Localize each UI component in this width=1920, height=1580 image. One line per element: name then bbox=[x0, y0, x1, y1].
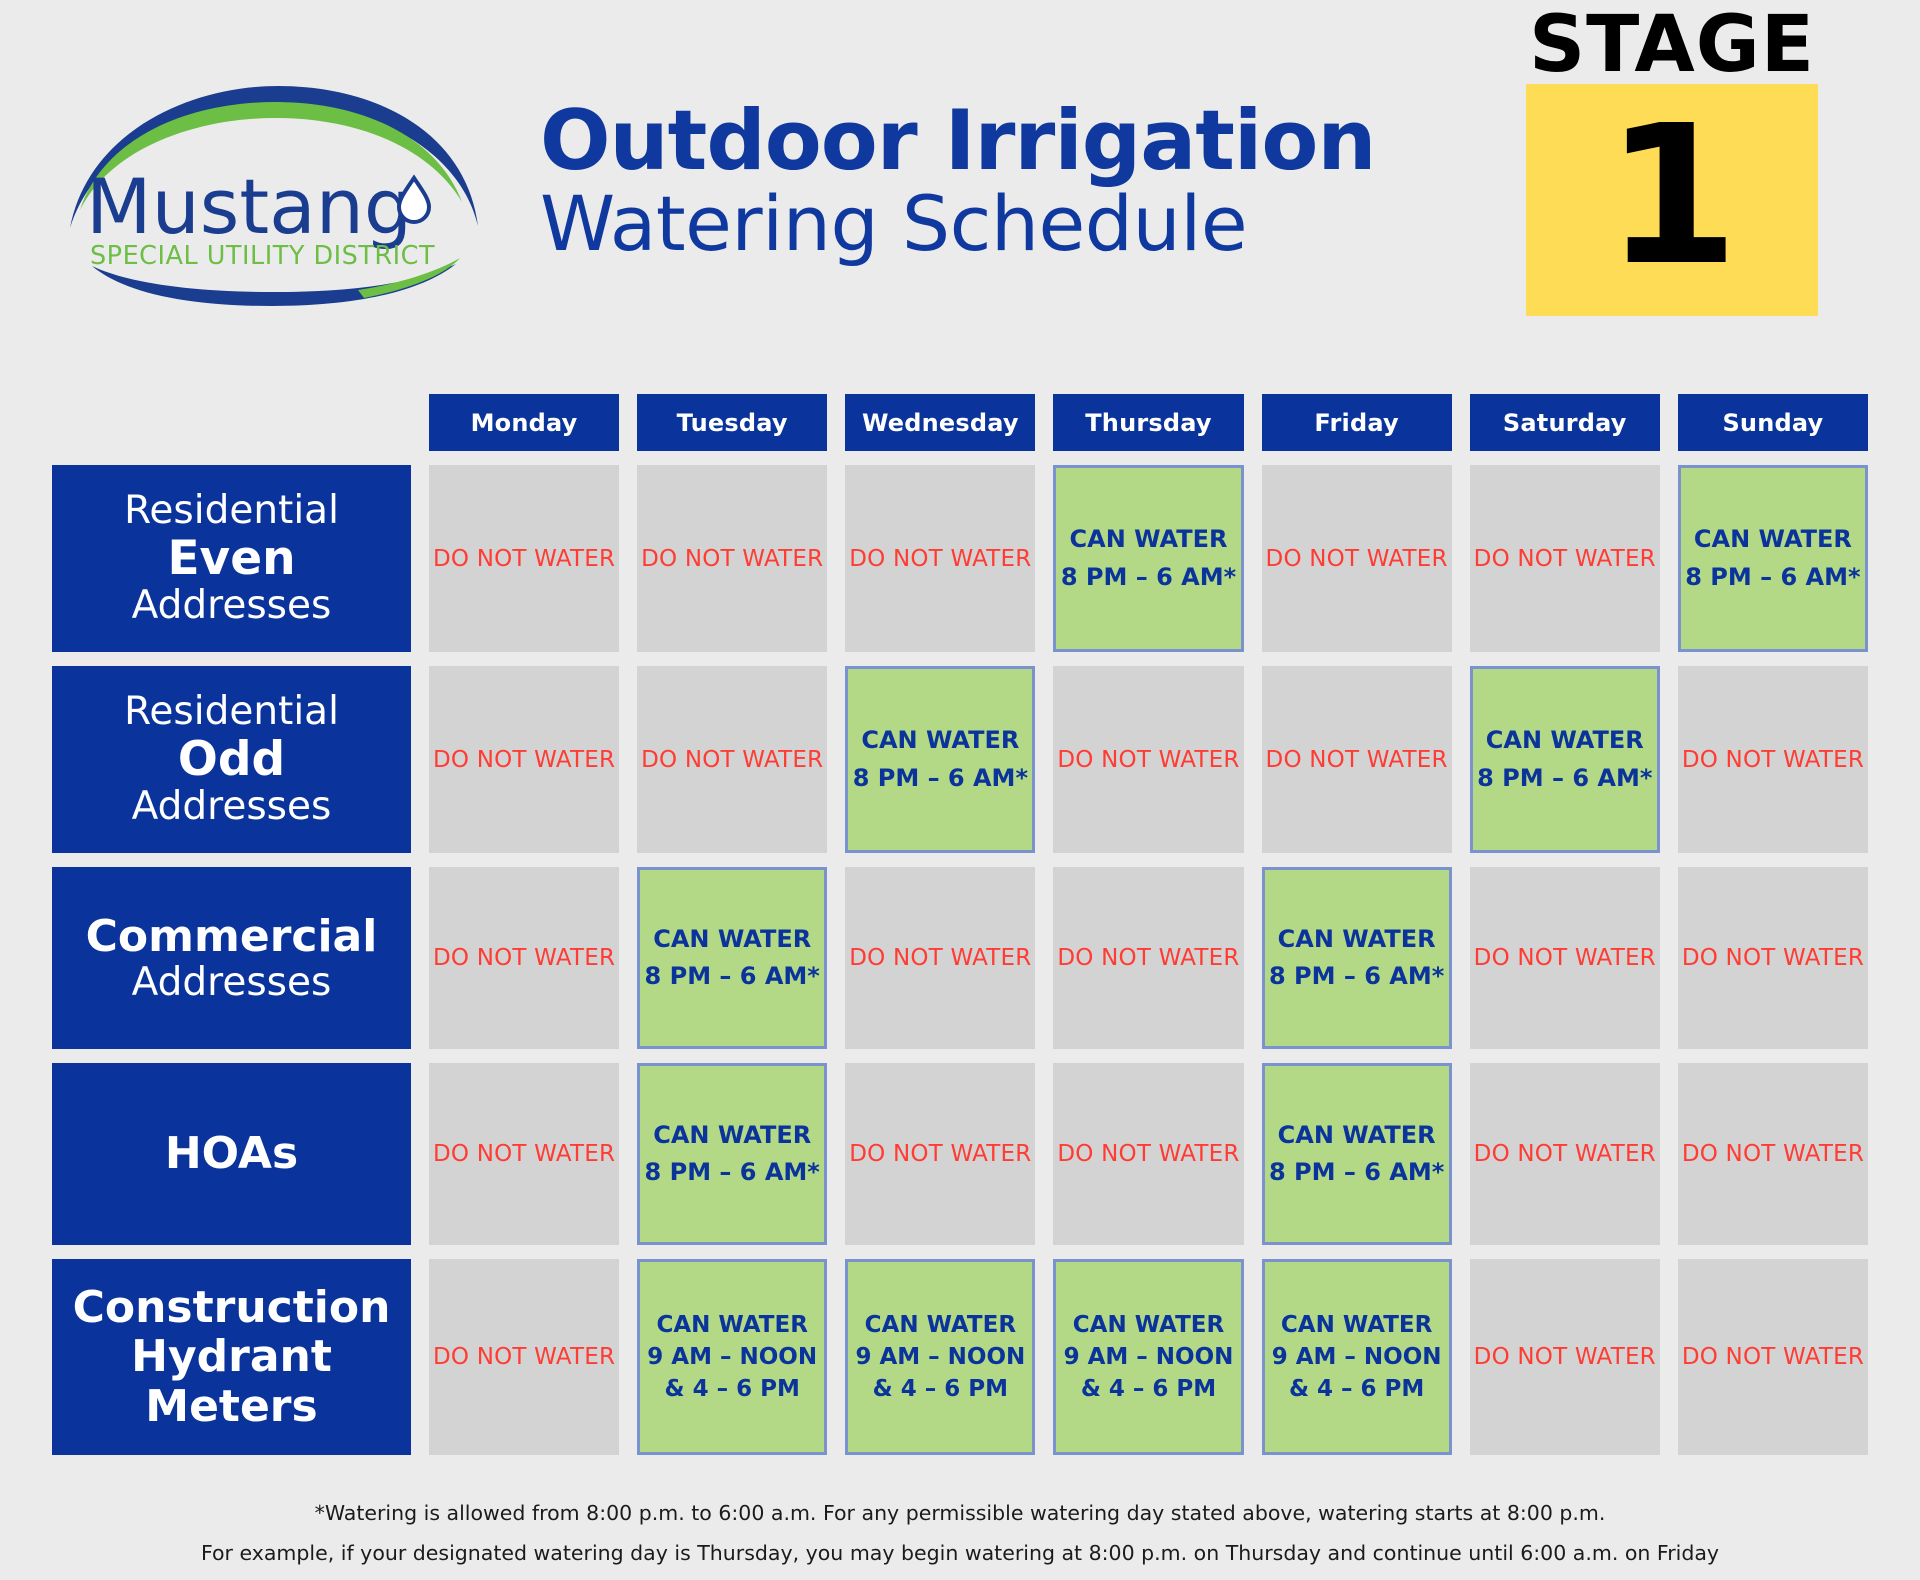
cell-odd-tuesday: DO NOT WATER bbox=[637, 666, 827, 853]
day-header-tuesday: Tuesday bbox=[637, 394, 827, 451]
row-label-line2: Odd bbox=[178, 734, 285, 786]
title-secondary: Watering Schedule bbox=[540, 181, 1520, 266]
cell-text-line2: 8 PM – 6 AM* bbox=[1477, 760, 1652, 797]
cell-text: DO NOT WATER bbox=[433, 1344, 615, 1370]
cell-commercial-sunday: DO NOT WATER bbox=[1678, 867, 1868, 1049]
cell-commercial-saturday: DO NOT WATER bbox=[1470, 867, 1660, 1049]
cell-text-line1: CAN WATER bbox=[1070, 521, 1228, 558]
table-row-residential-even: Residential Even Addresses DO NOT WATER … bbox=[0, 465, 1920, 652]
cell-text: DO NOT WATER bbox=[1474, 945, 1656, 971]
footnote-line-1: *Watering is allowed from 8:00 p.m. to 6… bbox=[0, 1494, 1920, 1534]
cell-text: DO NOT WATER bbox=[433, 1141, 615, 1167]
logo-brand-text: Mustang bbox=[86, 162, 412, 251]
page-title: Outdoor Irrigation Watering Schedule bbox=[540, 100, 1520, 266]
table-row-construction-hydrant-meters: Construction Hydrant Meters DO NOT WATER… bbox=[0, 1259, 1920, 1455]
cell-text: DO NOT WATER bbox=[1266, 747, 1448, 773]
table-header-row: Monday Tuesday Wednesday Thursday Friday… bbox=[0, 394, 1920, 451]
cell-even-sunday: CAN WATER 8 PM – 6 AM* bbox=[1678, 465, 1868, 652]
cell-hoas-friday: CAN WATER 8 PM – 6 AM* bbox=[1262, 1063, 1452, 1245]
cell-text: DO NOT WATER bbox=[1474, 1344, 1656, 1370]
row-label-construction-hydrant-meters: Construction Hydrant Meters bbox=[52, 1259, 411, 1455]
logo-tagline-text: SPECIAL UTILITY DISTRICT bbox=[90, 241, 435, 271]
cell-even-monday: DO NOT WATER bbox=[429, 465, 619, 652]
cell-text-line2: 9 AM – NOON bbox=[1064, 1341, 1234, 1373]
cell-odd-monday: DO NOT WATER bbox=[429, 666, 619, 853]
cell-text-line3: & 4 – 6 PM bbox=[665, 1373, 800, 1405]
cell-odd-sunday: DO NOT WATER bbox=[1678, 666, 1868, 853]
cell-text: DO NOT WATER bbox=[849, 945, 1031, 971]
cell-text: DO NOT WATER bbox=[433, 747, 615, 773]
cell-text-line1: CAN WATER bbox=[1694, 521, 1852, 558]
cell-text-line3: & 4 – 6 PM bbox=[1081, 1373, 1216, 1405]
cell-even-saturday: DO NOT WATER bbox=[1470, 465, 1660, 652]
stage-number: 1 bbox=[1605, 101, 1739, 293]
cell-text: DO NOT WATER bbox=[849, 1141, 1031, 1167]
cell-even-wednesday: DO NOT WATER bbox=[845, 465, 1035, 652]
cell-text-line1: CAN WATER bbox=[1278, 921, 1436, 958]
cell-text-line1: CAN WATER bbox=[1073, 1309, 1224, 1341]
cell-construction-thursday: CAN WATER 9 AM – NOON & 4 – 6 PM bbox=[1053, 1259, 1243, 1455]
cell-text: DO NOT WATER bbox=[433, 546, 615, 572]
day-header-friday: Friday bbox=[1262, 394, 1452, 451]
cell-text-line1: CAN WATER bbox=[1281, 1309, 1432, 1341]
page-header: Mustang SPECIAL UTILITY DISTRICT Outdoor… bbox=[0, 0, 1920, 385]
row-label-line2: HOAs bbox=[165, 1129, 298, 1178]
row-label-line1: Residential bbox=[124, 690, 339, 734]
row-label-line3: Meters bbox=[145, 1382, 317, 1431]
cell-text-line2: 8 PM – 6 AM* bbox=[853, 760, 1028, 797]
cell-text-line1: CAN WATER bbox=[657, 1309, 808, 1341]
cell-text-line2: 8 PM – 6 AM* bbox=[1269, 958, 1444, 995]
day-header-label: Sunday bbox=[1678, 394, 1868, 451]
cell-hoas-monday: DO NOT WATER bbox=[429, 1063, 619, 1245]
cell-hoas-thursday: DO NOT WATER bbox=[1053, 1063, 1243, 1245]
table-row-commercial: Commercial Addresses DO NOT WATER CAN WA… bbox=[0, 867, 1920, 1049]
cell-text-line2: 8 PM – 6 AM* bbox=[645, 958, 820, 995]
row-label-residential-even: Residential Even Addresses bbox=[52, 465, 411, 652]
cell-construction-wednesday: CAN WATER 9 AM – NOON & 4 – 6 PM bbox=[845, 1259, 1035, 1455]
day-header-sunday: Sunday bbox=[1678, 394, 1868, 451]
cell-commercial-thursday: DO NOT WATER bbox=[1053, 867, 1243, 1049]
cell-even-tuesday: DO NOT WATER bbox=[637, 465, 827, 652]
cell-text: DO NOT WATER bbox=[1057, 945, 1239, 971]
table-corner-cell bbox=[52, 394, 411, 451]
cell-text-line2: 8 PM – 6 AM* bbox=[1269, 1154, 1444, 1191]
cell-odd-thursday: DO NOT WATER bbox=[1053, 666, 1243, 853]
cell-odd-wednesday: CAN WATER 8 PM – 6 AM* bbox=[845, 666, 1035, 853]
table-row-residential-odd: Residential Odd Addresses DO NOT WATER D… bbox=[0, 666, 1920, 853]
table-row-hoas: HOAs DO NOT WATER CAN WATER 8 PM – 6 AM*… bbox=[0, 1063, 1920, 1245]
cell-text-line1: CAN WATER bbox=[1278, 1117, 1436, 1154]
cell-text: DO NOT WATER bbox=[1057, 747, 1239, 773]
watering-schedule-table: Monday Tuesday Wednesday Thursday Friday… bbox=[0, 394, 1920, 1469]
cell-text: DO NOT WATER bbox=[433, 945, 615, 971]
cell-text-line2: 8 PM – 6 AM* bbox=[645, 1154, 820, 1191]
cell-text: DO NOT WATER bbox=[641, 546, 823, 572]
row-label-line2: Even bbox=[167, 533, 295, 585]
cell-commercial-friday: CAN WATER 8 PM – 6 AM* bbox=[1262, 867, 1452, 1049]
cell-text: DO NOT WATER bbox=[641, 747, 823, 773]
cell-construction-saturday: DO NOT WATER bbox=[1470, 1259, 1660, 1455]
row-label-residential-odd: Residential Odd Addresses bbox=[52, 666, 411, 853]
day-header-monday: Monday bbox=[429, 394, 619, 451]
row-label-commercial: Commercial Addresses bbox=[52, 867, 411, 1049]
day-header-saturday: Saturday bbox=[1470, 394, 1660, 451]
cell-text: DO NOT WATER bbox=[849, 546, 1031, 572]
row-label-line3: Addresses bbox=[132, 961, 332, 1005]
cell-text: DO NOT WATER bbox=[1682, 747, 1864, 773]
cell-text-line1: CAN WATER bbox=[865, 1309, 1016, 1341]
cell-hoas-saturday: DO NOT WATER bbox=[1470, 1063, 1660, 1245]
cell-commercial-monday: DO NOT WATER bbox=[429, 867, 619, 1049]
row-label-line2: Commercial bbox=[86, 912, 378, 961]
row-label-line1: Residential bbox=[124, 489, 339, 533]
row-label-line3: Addresses bbox=[132, 584, 332, 628]
cell-text-line2: 9 AM – NOON bbox=[1272, 1341, 1442, 1373]
cell-text-line3: & 4 – 6 PM bbox=[873, 1373, 1008, 1405]
stage-number-box: 1 bbox=[1526, 84, 1818, 316]
cell-text: DO NOT WATER bbox=[1682, 1344, 1864, 1370]
cell-text-line1: CAN WATER bbox=[1486, 722, 1644, 759]
cell-text: DO NOT WATER bbox=[1266, 546, 1448, 572]
cell-text: DO NOT WATER bbox=[1682, 1141, 1864, 1167]
cell-text-line1: CAN WATER bbox=[653, 921, 811, 958]
cell-text-line3: & 4 – 6 PM bbox=[1289, 1373, 1424, 1405]
row-label-line3: Addresses bbox=[132, 785, 332, 829]
cell-even-thursday: CAN WATER 8 PM – 6 AM* bbox=[1053, 465, 1243, 652]
row-label-hoas: HOAs bbox=[52, 1063, 411, 1245]
cell-odd-friday: DO NOT WATER bbox=[1262, 666, 1452, 853]
cell-construction-monday: DO NOT WATER bbox=[429, 1259, 619, 1455]
day-header-label: Friday bbox=[1262, 394, 1452, 451]
day-header-label: Wednesday bbox=[845, 394, 1035, 451]
cell-text: DO NOT WATER bbox=[1474, 1141, 1656, 1167]
cell-text-line1: CAN WATER bbox=[653, 1117, 811, 1154]
cell-construction-friday: CAN WATER 9 AM – NOON & 4 – 6 PM bbox=[1262, 1259, 1452, 1455]
logo-icon: Mustang SPECIAL UTILITY DISTRICT bbox=[58, 78, 488, 308]
cell-text: DO NOT WATER bbox=[1682, 945, 1864, 971]
cell-text: DO NOT WATER bbox=[1057, 1141, 1239, 1167]
cell-construction-tuesday: CAN WATER 9 AM – NOON & 4 – 6 PM bbox=[637, 1259, 827, 1455]
day-header-label: Thursday bbox=[1053, 394, 1243, 451]
stage-badge: STAGE 1 bbox=[1526, 8, 1818, 316]
row-label-line1: Construction bbox=[73, 1283, 391, 1332]
cell-even-friday: DO NOT WATER bbox=[1262, 465, 1452, 652]
cell-text-line2: 9 AM – NOON bbox=[647, 1341, 817, 1373]
cell-hoas-wednesday: DO NOT WATER bbox=[845, 1063, 1035, 1245]
stage-label: STAGE bbox=[1526, 8, 1818, 82]
mustang-sud-logo: Mustang SPECIAL UTILITY DISTRICT bbox=[58, 78, 488, 308]
cell-hoas-tuesday: CAN WATER 8 PM – 6 AM* bbox=[637, 1063, 827, 1245]
cell-construction-sunday: DO NOT WATER bbox=[1678, 1259, 1868, 1455]
title-primary: Outdoor Irrigation bbox=[540, 100, 1520, 181]
cell-text-line2: 8 PM – 6 AM* bbox=[1061, 559, 1236, 596]
cell-hoas-sunday: DO NOT WATER bbox=[1678, 1063, 1868, 1245]
day-header-wednesday: Wednesday bbox=[845, 394, 1035, 451]
cell-odd-saturday: CAN WATER 8 PM – 6 AM* bbox=[1470, 666, 1660, 853]
cell-text-line1: CAN WATER bbox=[861, 722, 1019, 759]
row-label-line2: Hydrant bbox=[131, 1332, 332, 1381]
cell-text-line2: 8 PM – 6 AM* bbox=[1685, 559, 1860, 596]
footnote: *Watering is allowed from 8:00 p.m. to 6… bbox=[0, 1494, 1920, 1574]
day-header-label: Saturday bbox=[1470, 394, 1660, 451]
footnote-line-2: For example, if your designated watering… bbox=[0, 1534, 1920, 1574]
cell-commercial-wednesday: DO NOT WATER bbox=[845, 867, 1035, 1049]
cell-text: DO NOT WATER bbox=[1474, 546, 1656, 572]
day-header-label: Monday bbox=[429, 394, 619, 451]
cell-commercial-tuesday: CAN WATER 8 PM – 6 AM* bbox=[637, 867, 827, 1049]
day-header-label: Tuesday bbox=[637, 394, 827, 451]
cell-text-line2: 9 AM – NOON bbox=[855, 1341, 1025, 1373]
day-header-thursday: Thursday bbox=[1053, 394, 1243, 451]
